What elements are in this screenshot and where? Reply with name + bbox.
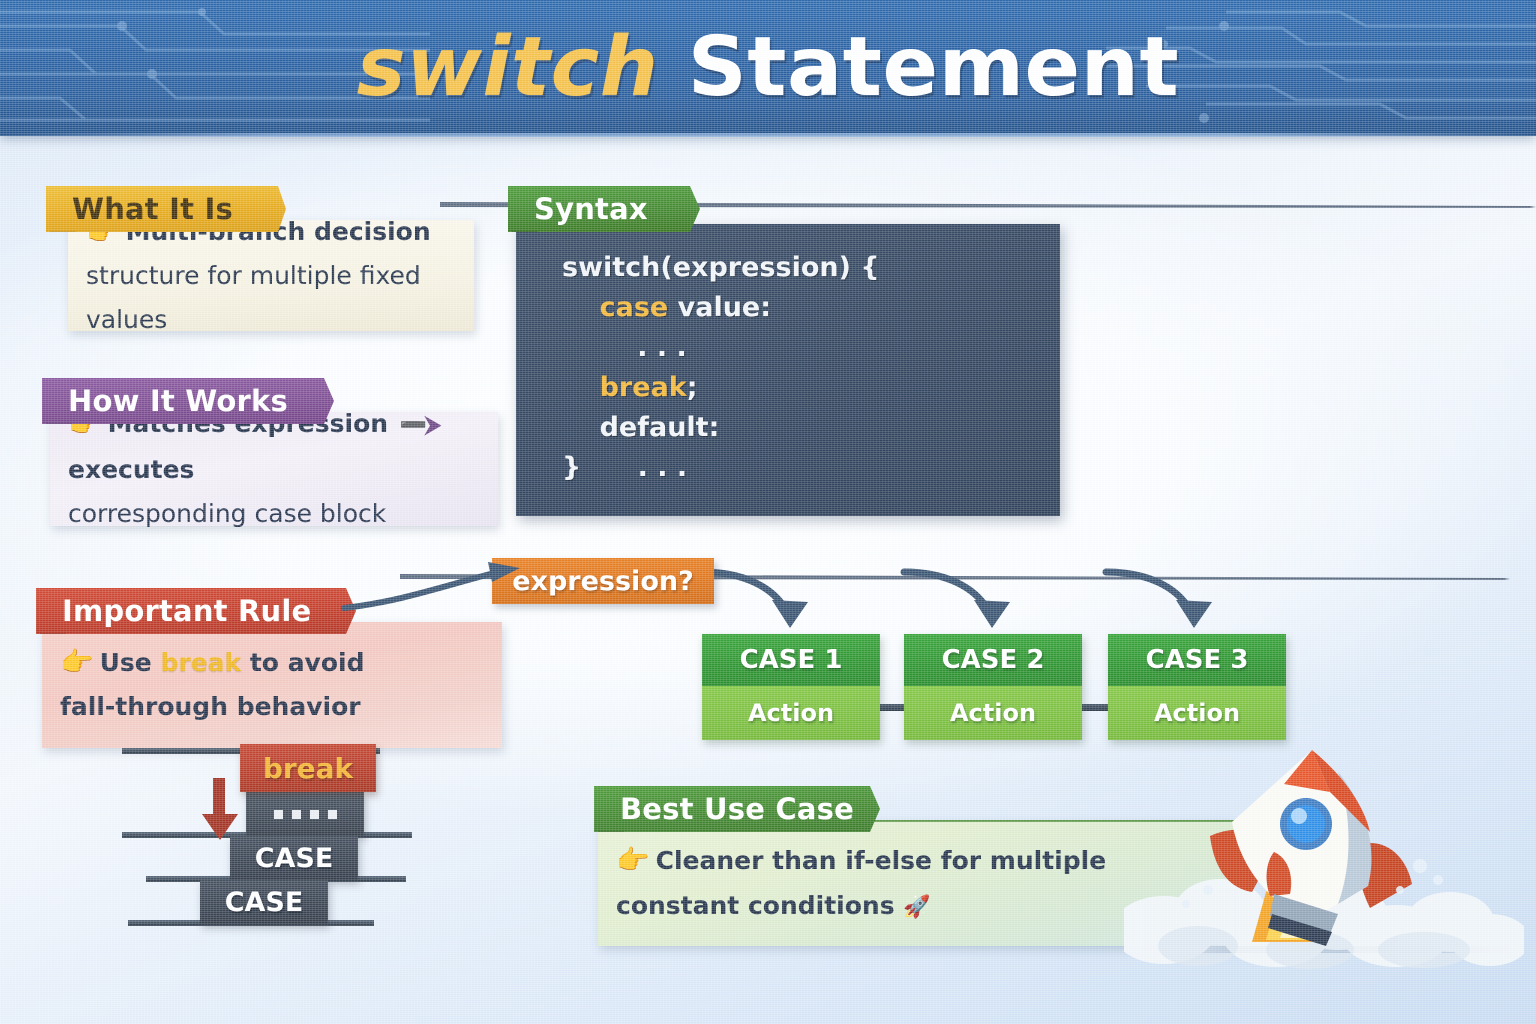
- expression-label: expression?: [512, 566, 694, 597]
- header-underline: [0, 133, 1536, 137]
- case-connector-1: [878, 704, 906, 711]
- dot: [310, 810, 319, 819]
- case-connector-2: [1080, 704, 1108, 711]
- rocket-emoji-icon: 🚀: [903, 895, 930, 920]
- fallthrough-case-lower: CASE: [200, 880, 328, 924]
- code-line-2: case value:: [562, 288, 1060, 328]
- case-block-3[interactable]: CASE 3 Action: [1108, 634, 1286, 740]
- case-3-title: CASE 3: [1108, 634, 1286, 686]
- fallthrough-dots-block: [246, 792, 364, 836]
- title-accent: switch: [357, 20, 659, 115]
- pointing-hand-icon: 👉: [60, 647, 94, 678]
- important-rule-line2: fall-through behavior: [60, 692, 361, 721]
- case-1-action: Action: [702, 686, 880, 740]
- code-line-1: switch(expression) {: [562, 248, 1060, 288]
- case-3-action: Action: [1108, 686, 1286, 740]
- what-it-is-body: 👉Multi-branch decision structure for mul…: [68, 220, 474, 331]
- card-syntax: switch(expression) { case value: . . . b…: [508, 186, 1060, 516]
- pointing-hand-icon: 👉: [616, 845, 650, 876]
- branch-arrows-icon: [700, 566, 1260, 638]
- code-line-4: break;: [562, 368, 1060, 408]
- rocket-illustration-icon: [1124, 744, 1524, 974]
- page-header: switch Statement: [0, 0, 1536, 136]
- right-arrow-icon: ➖⮞: [397, 413, 442, 438]
- important-rule-text: 👉Use break to avoid fall-through behavio…: [42, 641, 379, 729]
- arrow-rule-to-expression-icon: [340, 556, 530, 620]
- title-main: Statement: [688, 20, 1180, 115]
- case-block-1[interactable]: CASE 1 Action: [702, 634, 880, 740]
- what-it-is-ribbon: What It Is: [46, 186, 286, 232]
- how-it-works-line1b: executes: [68, 455, 194, 484]
- case-1-title: CASE 1: [702, 634, 880, 686]
- best-use-case-line2: constant conditions: [616, 891, 895, 920]
- important-rule-ribbon-label: Important Rule: [62, 594, 311, 628]
- fallthrough-case-lower-label: CASE: [225, 887, 304, 918]
- fallthrough-case-upper: CASE: [230, 836, 358, 880]
- important-rule-ribbon: Important Rule: [36, 588, 356, 634]
- page-title: switch Statement: [0, 20, 1536, 116]
- card-what-it-is: 👉Multi-branch decision structure for mul…: [46, 186, 474, 331]
- syntax-ribbon-label: Syntax: [534, 192, 648, 226]
- fallthrough-down-arrow-icon: [196, 778, 244, 840]
- how-it-works-line2: corresponding case block: [68, 499, 386, 528]
- case-2-action: Action: [904, 686, 1082, 740]
- card-how-it-works: 👉Matches expression ➖⮞ executes correspo…: [42, 378, 498, 526]
- best-use-case-ribbon-label: Best Use Case: [620, 792, 854, 826]
- how-it-works-ribbon-label: How It Works: [68, 384, 288, 418]
- what-it-is-ribbon-label: What It Is: [72, 192, 233, 226]
- best-use-case-ribbon: Best Use Case: [594, 786, 880, 832]
- fallthrough-case-upper-label: CASE: [255, 843, 334, 874]
- dot: [328, 810, 337, 819]
- code-line-6: } . . .: [562, 448, 1060, 488]
- case-block-2[interactable]: CASE 2 Action: [904, 634, 1082, 740]
- best-use-case-text: 👉Cleaner than if-else for multiple const…: [598, 838, 1120, 930]
- important-rule-body: 👉Use break to avoid fall-through behavio…: [42, 622, 502, 748]
- dot: [292, 810, 301, 819]
- important-rule-line1a: Use: [100, 648, 161, 677]
- what-it-is-line2: structure for multiple fixed values: [86, 261, 421, 334]
- fallthrough-break-block: break: [240, 744, 376, 792]
- important-rule-keyword: break: [160, 648, 241, 677]
- code-line-3: . . .: [562, 328, 1060, 368]
- dot: [274, 810, 283, 819]
- how-it-works-body: 👉Matches expression ➖⮞ executes correspo…: [50, 412, 498, 526]
- syntax-ribbon: Syntax: [508, 186, 700, 232]
- code-line-5: default:: [562, 408, 1060, 448]
- syntax-code-panel: switch(expression) { case value: . . . b…: [516, 224, 1060, 516]
- case-2-title: CASE 2: [904, 634, 1082, 686]
- important-rule-line1b: to avoid: [241, 648, 364, 677]
- how-it-works-ribbon: How It Works: [42, 378, 334, 424]
- best-use-case-line1: Cleaner than if-else for multiple: [656, 846, 1107, 875]
- fallthrough-break-label: break: [263, 752, 353, 785]
